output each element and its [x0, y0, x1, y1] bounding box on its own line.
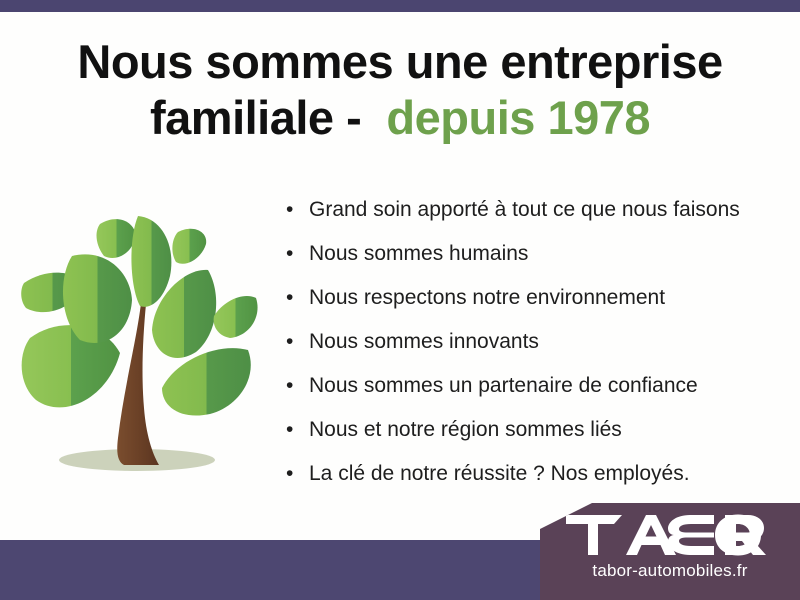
title-line-1: Nous sommes une entreprise [77, 35, 722, 88]
bullet-marker: • [286, 452, 293, 496]
benefits-list: • Grand soin apporté à tout ce que nous … [284, 188, 784, 496]
list-item-label: Nous sommes humains [309, 242, 528, 265]
slide-canvas: Nous sommes une entreprise familiale - d… [0, 0, 800, 600]
slide-title: Nous sommes une entreprise familiale - d… [0, 34, 800, 146]
brand-wordmark [540, 513, 800, 557]
top-accent-band [0, 0, 800, 12]
list-item-label: Nous sommes innovants [309, 330, 539, 353]
tree-leaf [162, 348, 251, 415]
title-line-2-main: familiale [150, 91, 334, 144]
tree-illustration [12, 188, 264, 488]
list-item-label: Nous sommes un partenaire de confiance [309, 374, 698, 397]
tree-leaf [172, 229, 206, 264]
list-item-label: Nous et notre région sommes liés [309, 418, 622, 441]
list-item: • La clé de notre réussite ? Nos employé… [284, 452, 784, 496]
bullet-marker: • [286, 232, 293, 276]
brand-logo-block[interactable]: tabor-automobiles.fr [540, 503, 800, 600]
title-separator: - [346, 91, 361, 144]
list-item: • Nous sommes innovants [284, 320, 784, 364]
tree-leaf [97, 219, 136, 258]
bullet-marker: • [286, 188, 293, 232]
list-item: • Nous et notre région sommes liés [284, 408, 784, 452]
brand-url[interactable]: tabor-automobiles.fr [540, 561, 800, 581]
title-accent-depuis: depuis 1978 [386, 91, 650, 144]
list-item-label: Grand soin apporté à tout ce que nous fa… [309, 198, 740, 221]
bullet-marker: • [286, 276, 293, 320]
title-line-2: familiale - depuis 1978 [0, 90, 800, 146]
tree-leaf [63, 254, 132, 343]
list-item: • Nous sommes humains [284, 232, 784, 276]
bullet-marker: • [286, 320, 293, 364]
list-item: • Nous respectons notre environnement [284, 276, 784, 320]
bullet-marker: • [286, 364, 293, 408]
tree-leaf [131, 216, 171, 307]
list-item-label: La clé de notre réussite ? Nos employés. [309, 462, 690, 485]
list-item: • Nous sommes un partenaire de confiance [284, 364, 784, 408]
list-item-label: Nous respectons notre environnement [309, 286, 665, 309]
bullet-marker: • [286, 408, 293, 452]
tree-leaf [214, 296, 258, 338]
list-item: • Grand soin apporté à tout ce que nous … [284, 188, 784, 232]
